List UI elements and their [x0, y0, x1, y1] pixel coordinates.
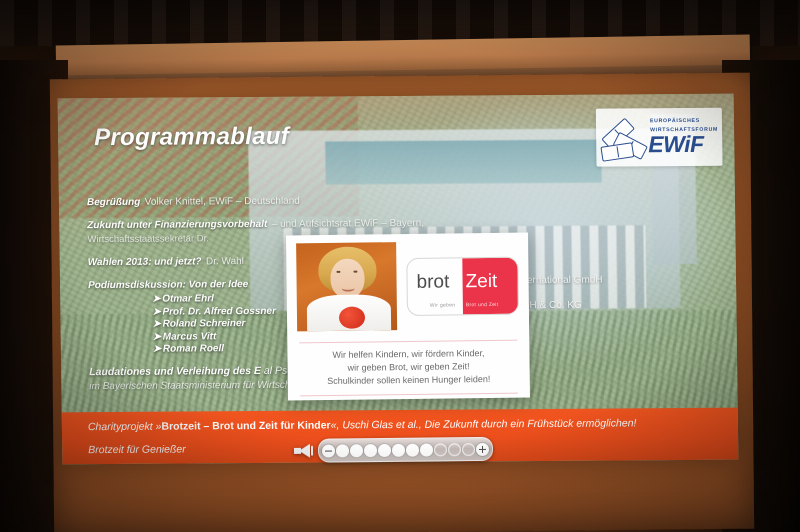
brotzeit-logo: brot Zeit Wir geben Brot und Zeit: [406, 257, 519, 316]
brotzeit-logo-word1: brot: [416, 272, 449, 291]
speaker-icon: [292, 441, 318, 461]
agenda-rest: Dr. Wahl: [206, 256, 244, 267]
volume-segment[interactable]: [392, 443, 405, 456]
volume-segment[interactable]: [462, 443, 475, 456]
volume-osd: [292, 436, 472, 464]
volume-segment[interactable]: [420, 443, 433, 456]
brotzeit-logo-tagline1: Wir geben: [430, 302, 456, 308]
arrow-icon: ➤: [152, 294, 162, 307]
charity-suffix: «, Uschi Glas et al., Die Zukunft durch …: [331, 417, 637, 431]
panelist-name: Otmar Ehrl: [162, 293, 214, 304]
panelist-name: Prof. Dr. Alfred Gossner: [162, 305, 276, 317]
ewif-logo-line1: EUROPÄISCHES: [650, 118, 700, 124]
portrait-eye-right: [353, 271, 357, 273]
portrait-photo: [296, 242, 397, 331]
agenda-lead: Podiumsdiskussion: Von der Idee: [88, 279, 248, 291]
agenda-rest: Volker Knittel, EWiF – Deutschland: [145, 196, 300, 208]
volume-segment[interactable]: [378, 443, 391, 456]
agenda-lead: Begrüßung: [87, 197, 140, 208]
volume-segment[interactable]: [350, 444, 363, 457]
photo-scene: Programmablauf EUROPÄISCHES WIRTSCHAFTSF…: [0, 0, 800, 532]
volume-increase-button[interactable]: [476, 442, 489, 455]
volume-decrease-button[interactable]: [322, 444, 335, 457]
arrow-icon: ➤: [153, 331, 163, 344]
charity-prefix: Charityprojekt »: [88, 421, 162, 434]
volume-slider[interactable]: [318, 437, 493, 463]
volume-segment[interactable]: [434, 443, 447, 456]
arrow-icon: ➤: [152, 319, 162, 332]
brotzeit-logo-tagline2: Brot und Zeit: [466, 302, 499, 308]
domino-icon: [602, 122, 648, 160]
volume-segment[interactable]: [406, 443, 419, 456]
divider-top: [299, 340, 517, 344]
page-title: Programmablauf: [94, 123, 289, 152]
agenda-lead: Wahlen 2013: und jetzt?: [88, 256, 202, 268]
agenda-row: Begrüßung Volker Knittel, EWiF – Deutsch…: [87, 190, 717, 209]
charity-bold: Brotzeit – Brot und Zeit für Kinder: [161, 419, 330, 432]
agenda-lead: Zukunft unter Finanzierungsvorbehalt: [87, 219, 267, 231]
brotzeit-card-top: brot Zeit Wir geben Brot und Zeit: [296, 241, 519, 336]
charity-line: Charityprojekt »Brotzeit – Brot und Zeit…: [88, 417, 637, 433]
divider-bottom: [300, 393, 518, 397]
brotzeit-overlay-card: brot Zeit Wir geben Brot und Zeit Wir he…: [286, 233, 530, 401]
brotzeit-logo-word2: Zeit: [465, 272, 497, 291]
brotzeit-tagline: Brotzeit für Genießer: [88, 443, 186, 456]
laudationes-lead: Laudationes und Verleihung des E: [89, 365, 261, 378]
volume-segment[interactable]: [448, 443, 461, 456]
volume-segment[interactable]: [364, 444, 377, 457]
volume-segment[interactable]: [336, 444, 349, 457]
portrait-eye-left: [336, 271, 340, 273]
panelist-name: Marcus Vitt: [163, 331, 217, 342]
panelist-name: Roman Roell: [163, 343, 224, 354]
claim-line-3: Schulkinder sollen keinen Hunger leiden!: [298, 373, 520, 389]
arrow-icon: ➤: [153, 344, 163, 357]
ewif-wordmark: EWiF: [648, 132, 704, 156]
brotzeit-claim: Wir helfen Kindern, wir fördern Kinder, …: [297, 347, 519, 389]
portrait-face: [330, 259, 364, 299]
agenda-rest: – und Aufsichtsrat EWiF – Bayern,: [272, 218, 424, 230]
arrow-icon: ➤: [152, 306, 162, 319]
panelist-name: Roland Schreiner: [162, 318, 245, 330]
ewif-logo: EUROPÄISCHES WIRTSCHAFTSFORUM EWiF: [596, 108, 723, 167]
